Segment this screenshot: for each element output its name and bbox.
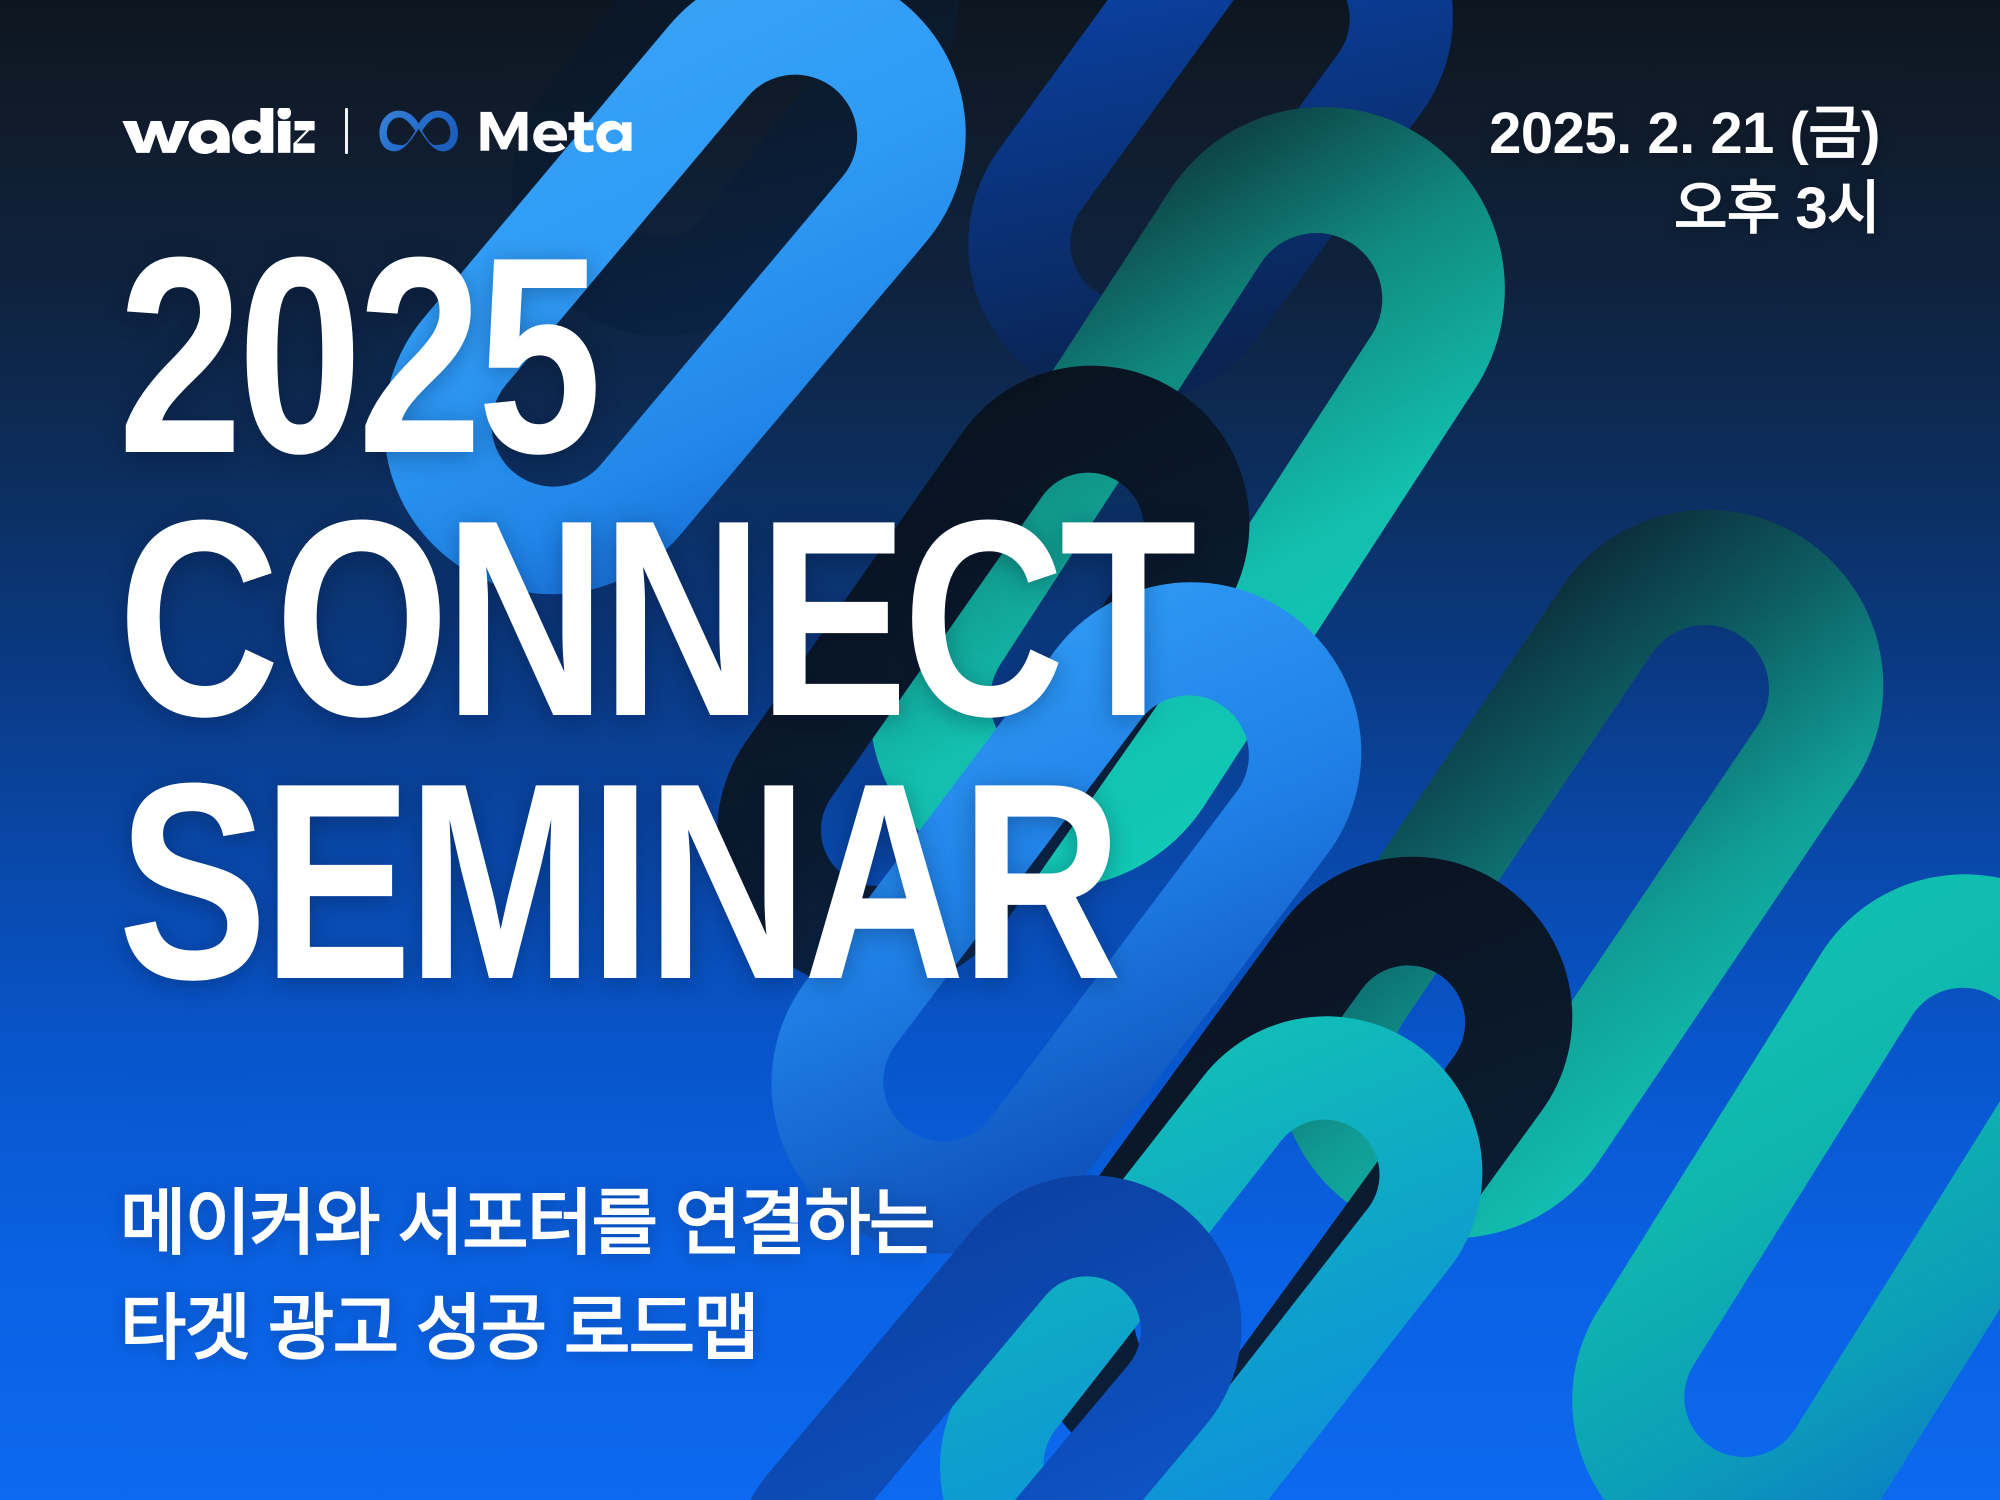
meta-wordmark [479, 109, 634, 153]
event-time: 오후 3시 [1489, 171, 1880, 246]
brand-lockup [120, 100, 634, 162]
headline-line-1: 2025 [118, 236, 1192, 477]
logo-divider [345, 108, 348, 154]
promo-banner: 2025. 2. 21 (금) 오후 3시 2025 CONNECT SEMIN… [0, 0, 2000, 1500]
headline-line-3: SEMINAR [118, 762, 1192, 1003]
subtitle-line-1: 메이커와 서포터를 연결하는 [120, 1172, 934, 1277]
subtitle: 메이커와 서포터를 연결하는 타겟 광고 성공 로드맵 [120, 1172, 934, 1382]
headline-line-2: CONNECT [118, 499, 1192, 740]
subtitle-line-2: 타겟 광고 성공 로드맵 [120, 1277, 934, 1382]
page-title: 2025 CONNECT SEMINAR [118, 236, 1460, 1002]
event-date: 2025. 2. 21 (금) [1489, 96, 1880, 171]
event-schedule: 2025. 2. 21 (금) 오후 3시 [1489, 96, 1880, 247]
wadiz-logo [120, 108, 315, 154]
meta-infinity-icon [378, 110, 459, 152]
meta-logo [378, 109, 635, 153]
